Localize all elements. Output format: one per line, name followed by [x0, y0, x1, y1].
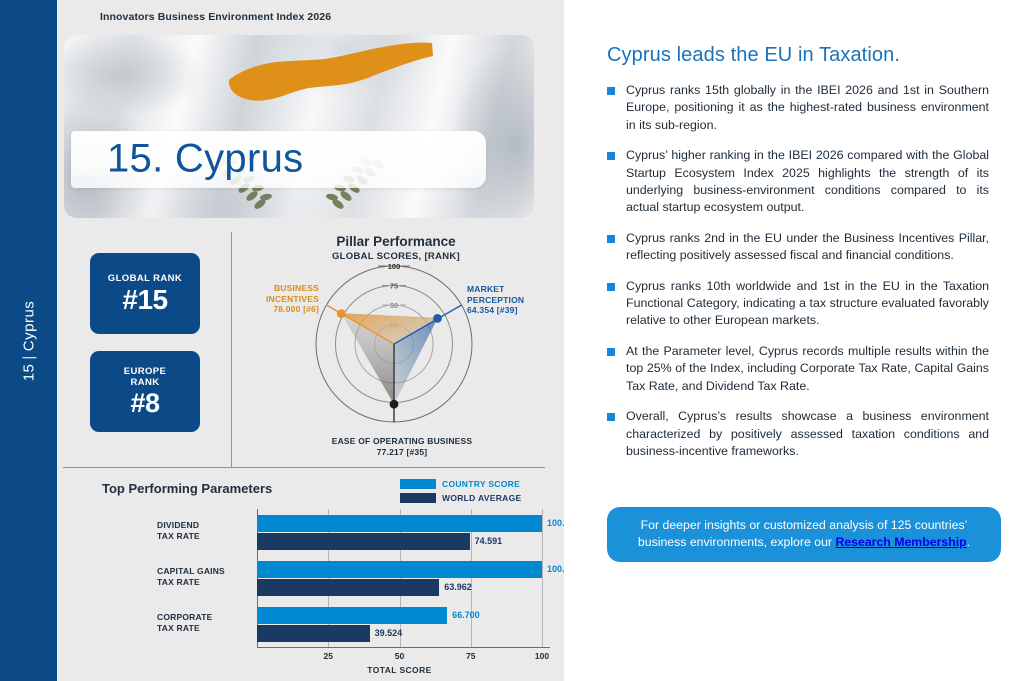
- bar-chart-x-tick: 100: [535, 651, 549, 661]
- spine-label: 15|Cyprus: [20, 300, 37, 381]
- research-membership-link[interactable]: Research Membership: [835, 535, 966, 549]
- svg-text:50: 50: [390, 301, 398, 310]
- commentary-bullet-text: Cyprus ranks 15th globally in the IBEI 2…: [626, 82, 989, 134]
- bar-chart-x-tick: 50: [395, 651, 404, 661]
- bar-chart-value-label: 66.700: [452, 607, 480, 624]
- bar-chart-title: Top Performing Parameters: [102, 481, 272, 496]
- bullet-square-icon: [607, 348, 615, 356]
- bar-chart-gridline: [542, 509, 543, 647]
- bar-chart-bar: [257, 515, 542, 532]
- commentary-bullet: Cyprus ranks 10th worldwide and 1st in t…: [607, 278, 989, 330]
- bar-chart-value-label: 39.524: [375, 625, 403, 642]
- radar-axis-bi-line2: INCENTIVES: [257, 294, 319, 305]
- spine-separator: |: [20, 351, 37, 363]
- radar-axis-mp-line2: PERCEPTION: [467, 295, 539, 306]
- bar-chart-category-label-line: TAX RATE: [157, 577, 249, 588]
- bar-chart-bar: [257, 625, 370, 642]
- bar-chart-category-label: CORPORATETAX RATE: [157, 612, 249, 633]
- europe-rank-card: EUROPE RANK #8: [90, 351, 200, 432]
- commentary-bullet: Cyprus ranks 2nd in the EU under the Bus…: [607, 230, 989, 265]
- bar-chart-category-label: DIVIDENDTAX RATE: [157, 520, 249, 541]
- commentary-bullet-text: At the Parameter level, Cyprus records m…: [626, 343, 989, 395]
- legend-swatch-country-score: [400, 479, 436, 489]
- bar-chart-x-tick: 75: [466, 651, 475, 661]
- bar-chart-category-label: CAPITAL GAINSTAX RATE: [157, 566, 249, 587]
- bar-chart-bar: [257, 561, 542, 578]
- radar-axis-ease-of-operating-business: EASE OF OPERATING BUSINESS 77.217 [#35]: [297, 436, 507, 457]
- report-page: 15|Cyprus Innovators Business Environmen…: [0, 0, 1024, 681]
- bar-chart-category-label-line: CORPORATE: [157, 612, 249, 623]
- global-rank-value: #15: [122, 285, 167, 314]
- cta-text-after: .: [967, 535, 970, 549]
- commentary-bullet: Overall, Cyprus’s results showcase a bus…: [607, 408, 989, 460]
- legend-label-country-score: COUNTRY SCORE: [442, 479, 520, 489]
- commentary-bullet: At the Parameter level, Cyprus records m…: [607, 343, 989, 395]
- bar-chart-x-axis: [257, 647, 550, 648]
- cta-banner[interactable]: For deeper insights or customized analys…: [607, 507, 1001, 562]
- bullet-square-icon: [607, 413, 615, 421]
- bar-chart-bar: [257, 533, 470, 550]
- bar-chart-bar: [257, 607, 447, 624]
- page-spine: 15|Cyprus: [0, 0, 57, 681]
- bullet-square-icon: [607, 87, 615, 95]
- report-panel: Innovators Business Environment Index 20…: [57, 0, 564, 681]
- radar-axis-bi-score: 78.000 [#6]: [257, 304, 319, 315]
- commentary-bullet-text: Overall, Cyprus’s results showcase a bus…: [626, 408, 989, 460]
- spine-country: Cyprus: [20, 300, 37, 351]
- bar-chart-plot: DIVIDENDTAX RATE100.00074.591CAPITAL GAI…: [102, 503, 552, 673]
- commentary-headline: Cyprus leads the EU in Taxation.: [607, 44, 900, 67]
- commentary-bullet-text: Cyprus’ higher ranking in the IBEI 2026 …: [626, 147, 989, 217]
- bar-chart-category-label-line: DIVIDEND: [157, 520, 249, 531]
- europe-rank-value: #8: [130, 389, 159, 418]
- spine-page-number: 15: [20, 363, 37, 381]
- bar-chart-x-axis-title: TOTAL SCORE: [257, 665, 542, 675]
- radar-axis-bi-line1: BUSINESS: [257, 283, 319, 294]
- bullet-square-icon: [607, 235, 615, 243]
- bar-chart-bar: [257, 579, 439, 596]
- radar-axis-mp-score: 64.354 [#39]: [467, 305, 539, 316]
- commentary-bullet-text: Cyprus ranks 10th worldwide and 1st in t…: [626, 278, 989, 330]
- bar-chart-value-label: 63.962: [444, 579, 472, 596]
- commentary-bullet: Cyprus ranks 15th globally in the IBEI 2…: [607, 82, 989, 134]
- country-flag-hero: 15. Cyprus: [64, 35, 534, 218]
- bar-chart-x-tick: 25: [324, 651, 333, 661]
- commentary-bullet-list: Cyprus ranks 15th globally in the IBEI 2…: [607, 82, 989, 473]
- commentary-bullet: Cyprus’ higher ranking in the IBEI 2026 …: [607, 147, 989, 217]
- legend-label-world-average: WORLD AVERAGE: [442, 493, 521, 503]
- radar-axis-business-incentives: BUSINESS INCENTIVES 78.000 [#6]: [257, 283, 319, 315]
- bar-chart-category-label-line: CAPITAL GAINS: [157, 566, 249, 577]
- radar-axis-market-perception: MARKET PERCEPTION 64.354 [#39]: [467, 284, 539, 316]
- europe-rank-label-line1: EUROPE: [124, 366, 167, 377]
- report-header-title: Innovators Business Environment Index 20…: [100, 11, 331, 23]
- country-title-band: 15. Cyprus: [71, 131, 486, 188]
- radar-axis-eob-line1: EASE OF OPERATING BUSINESS: [297, 436, 507, 447]
- bar-chart-legend: COUNTRY SCORE WORLD AVERAGE: [400, 478, 521, 506]
- svg-text:100: 100: [388, 262, 401, 271]
- bar-chart-category-label-line: TAX RATE: [157, 531, 249, 542]
- radar-axis-eob-score: 77.217 [#35]: [297, 447, 507, 458]
- bar-chart-category-label-line: TAX RATE: [157, 623, 249, 634]
- commentary-column: Cyprus leads the EU in Taxation. Cyprus …: [564, 0, 1024, 681]
- global-rank-label: GLOBAL RANK: [108, 273, 182, 284]
- vertical-divider: [231, 232, 232, 468]
- global-rank-card: GLOBAL RANK #15: [90, 253, 200, 334]
- bar-chart-value-label: 74.591: [475, 533, 503, 550]
- radar-axis-mp-line1: MARKET: [467, 284, 539, 295]
- bullet-square-icon: [607, 152, 615, 160]
- commentary-bullet-text: Cyprus ranks 2nd in the EU under the Bus…: [626, 230, 989, 265]
- legend-swatch-world-average: [400, 493, 436, 503]
- cyprus-island-icon: [219, 40, 434, 122]
- pillar-performance-title: Pillar Performance: [231, 234, 561, 249]
- bullet-square-icon: [607, 283, 615, 291]
- legend-item-country-score: COUNTRY SCORE: [400, 478, 521, 490]
- page-title: 15. Cyprus: [107, 136, 303, 181]
- svg-text:75: 75: [390, 282, 398, 291]
- horizontal-divider: [63, 467, 545, 468]
- europe-rank-label-line2: RANK: [130, 377, 159, 388]
